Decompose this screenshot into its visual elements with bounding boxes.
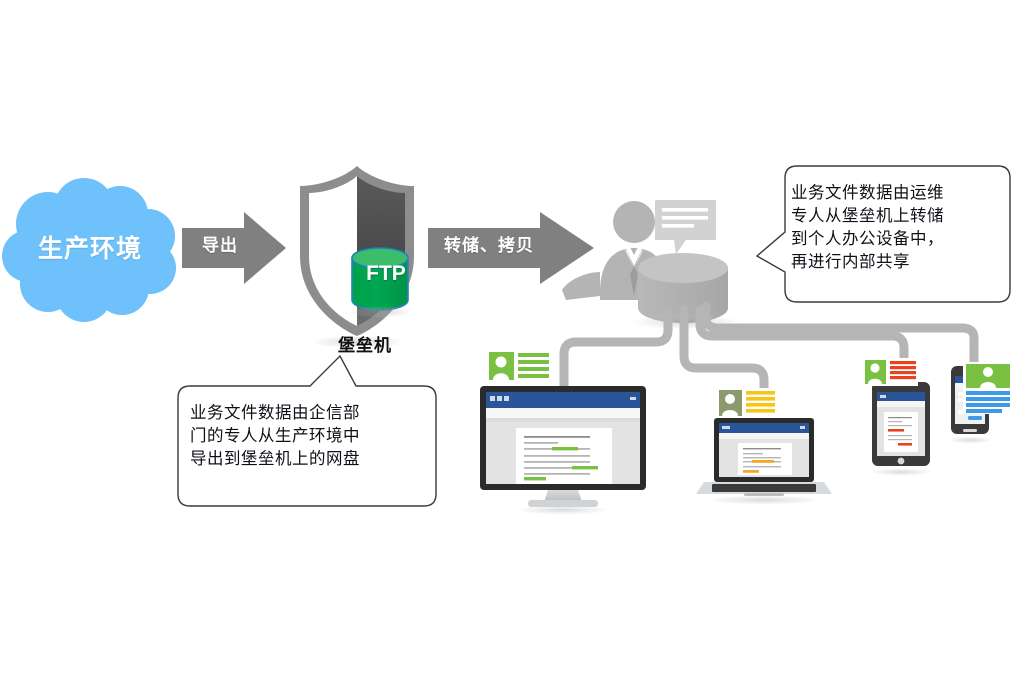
production-env-label: 生产环境: [4, 188, 176, 306]
callout-right-text: 业务文件数据由运维 专人从堡垒机上转储 到个人办公设备中， 再进行内部共享: [791, 182, 997, 274]
callout-left-text: 业务文件数据由企信部 门的专人从生产环境中 导出到堡垒机上的网盘: [190, 402, 426, 471]
tablet: [867, 382, 935, 476]
transfer-arrow: 转储、拷贝: [428, 212, 594, 284]
export-arrow-label: 导出: [202, 231, 238, 256]
person-speech-bubble: [655, 200, 716, 254]
bastion-host-label: 堡垒机: [300, 331, 430, 356]
user-card-blue: [963, 362, 1013, 414]
production-env-cloud-label-wrap: 生产环境: [4, 188, 176, 306]
user-card-green: [486, 350, 552, 382]
transfer-arrow-label: 转储、拷贝: [444, 231, 534, 256]
diagram-canvas: 生产环境 导出 转储、拷贝 FTP 堡垒机 业务文件数据由企信部 门的专人从生产…: [0, 0, 1015, 675]
diagram-graphics: [0, 0, 1015, 675]
user-card-yellow: [716, 388, 778, 418]
user-card-red: [862, 358, 918, 386]
ftp-storage-label: FTP: [358, 262, 414, 286]
laptop: [696, 418, 832, 505]
export-arrow: 导出: [182, 212, 286, 284]
desktop-monitor: [480, 386, 646, 515]
